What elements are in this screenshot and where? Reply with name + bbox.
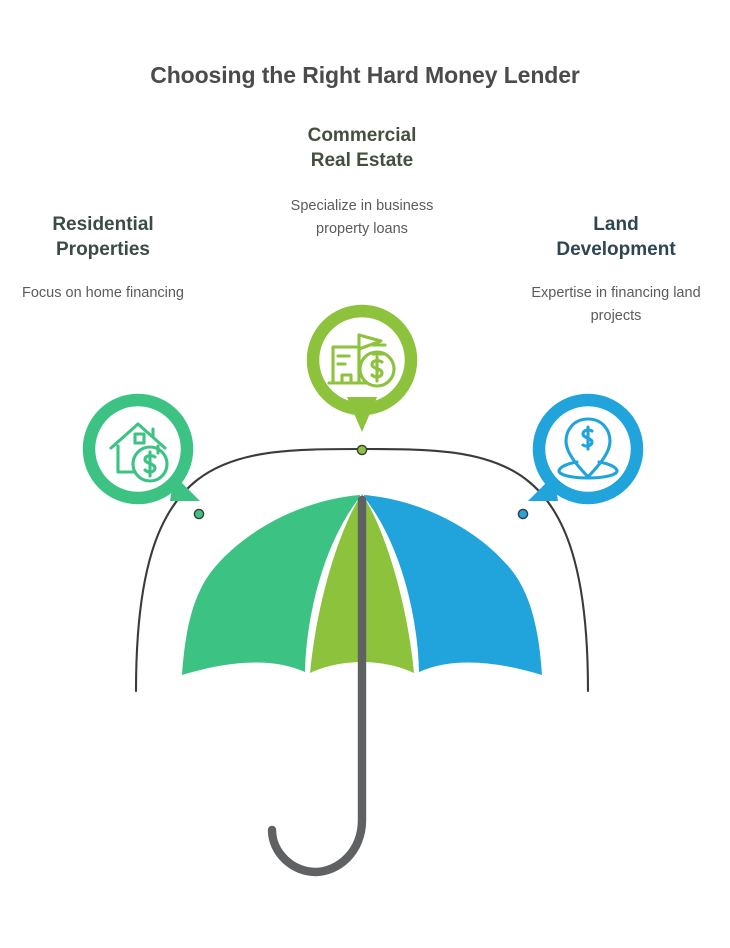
body-residential-properties: Focus on home financing — [13, 282, 193, 305]
map-pin-dollar-icon — [559, 419, 617, 478]
buildings-dollar-icon — [329, 335, 394, 386]
badge-commercial-real-estate[interactable] — [301, 299, 425, 441]
heading-line-1: Land — [593, 214, 638, 235]
badge-residential-properties[interactable] — [78, 389, 202, 513]
text-block-residential-properties: Residential Properties Focus on home fin… — [13, 213, 193, 305]
heading-land-development: Land Development — [525, 213, 707, 262]
text-block-commercial-real-estate: Commercial Real Estate Specialize in bus… — [272, 124, 452, 241]
heading-commercial-real-estate: Commercial Real Estate — [272, 124, 452, 173]
heading-line-2: Development — [556, 239, 675, 260]
heading-residential-properties: Residential Properties — [13, 213, 193, 262]
house-dollar-icon — [111, 424, 167, 481]
connector-dot-center — [357, 445, 366, 454]
heading-line-2: Properties — [56, 239, 150, 260]
heading-line-1: Commercial — [308, 125, 417, 146]
badge-land-development[interactable] — [522, 389, 650, 513]
body-commercial-real-estate: Specialize in business property loans — [272, 195, 452, 241]
badge-ring — [89, 400, 187, 498]
text-block-land-development: Land Development Expertise in financing … — [525, 213, 707, 328]
heading-line-1: Residential — [52, 214, 153, 235]
body-land-development: Expertise in financing land projects — [525, 282, 707, 328]
heading-line-2: Real Estate — [311, 150, 413, 171]
infographic-canvas: Choosing the Right Hard Money Lender — [0, 0, 730, 948]
